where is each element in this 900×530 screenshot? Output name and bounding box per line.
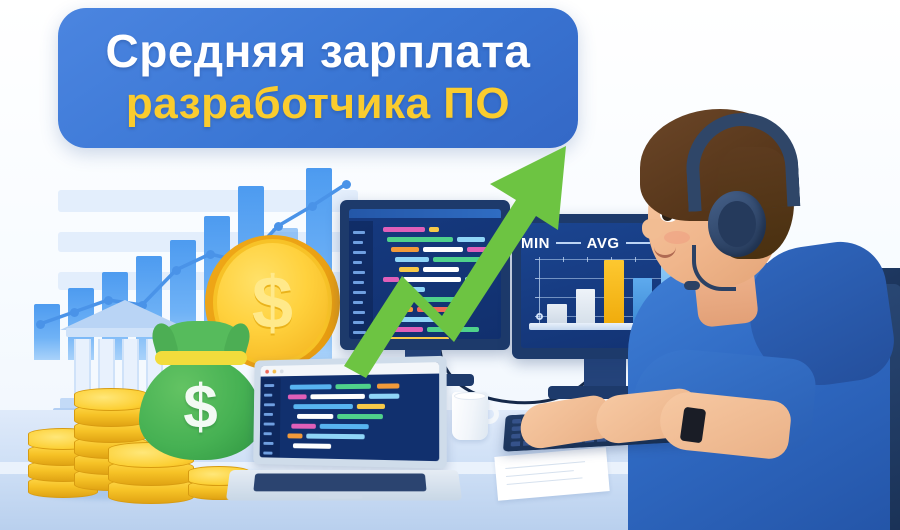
window-dot-red <box>265 370 269 374</box>
illustration-canvas: MIN AVG MAX <box>0 0 900 530</box>
line-number <box>264 432 272 435</box>
code-token <box>335 384 371 389</box>
code-token <box>369 394 399 399</box>
line-number <box>263 452 272 455</box>
code-token <box>293 404 353 409</box>
laptop-keyboard[interactable] <box>253 473 426 491</box>
smartwatch-icon <box>680 407 707 444</box>
trend-point <box>308 202 317 211</box>
cheek-blush <box>664 231 690 244</box>
paper-line <box>506 470 574 477</box>
code-token <box>290 384 332 389</box>
code-token <box>293 443 331 449</box>
laptop-icon[interactable] <box>228 358 460 508</box>
line-number <box>263 442 273 445</box>
line-number <box>264 403 275 406</box>
code-token <box>288 394 307 399</box>
growth-arrow-icon <box>330 80 590 380</box>
paper-line <box>507 477 583 485</box>
headset-earcup-inner <box>718 201 756 247</box>
code-token <box>291 424 316 429</box>
window-dot-yellow <box>273 370 277 374</box>
trend-point <box>274 222 283 231</box>
trend-point <box>172 266 181 275</box>
line-number <box>264 413 273 416</box>
laptop-trackpad[interactable] <box>320 493 363 499</box>
developer-person <box>600 95 900 530</box>
mug-icon <box>452 392 496 444</box>
mug-rim <box>454 392 486 400</box>
code-token <box>287 433 302 438</box>
code-token <box>306 434 364 440</box>
code-token <box>320 424 369 429</box>
laptop-base <box>226 470 462 501</box>
code-token <box>377 383 399 388</box>
laptop-editor-gutter <box>260 378 281 458</box>
code-token <box>357 404 385 409</box>
line-number <box>264 384 274 387</box>
title-line-1: Средняя зарплата <box>106 28 531 76</box>
trend-point <box>36 320 45 329</box>
code-token <box>337 414 383 419</box>
code-token <box>310 394 365 399</box>
window-dot-gray <box>280 369 284 373</box>
line-number <box>264 423 275 426</box>
nose <box>642 219 662 239</box>
paper-line <box>505 461 585 469</box>
headset-mic <box>684 281 700 290</box>
line-number <box>264 394 272 397</box>
code-token <box>297 414 333 419</box>
